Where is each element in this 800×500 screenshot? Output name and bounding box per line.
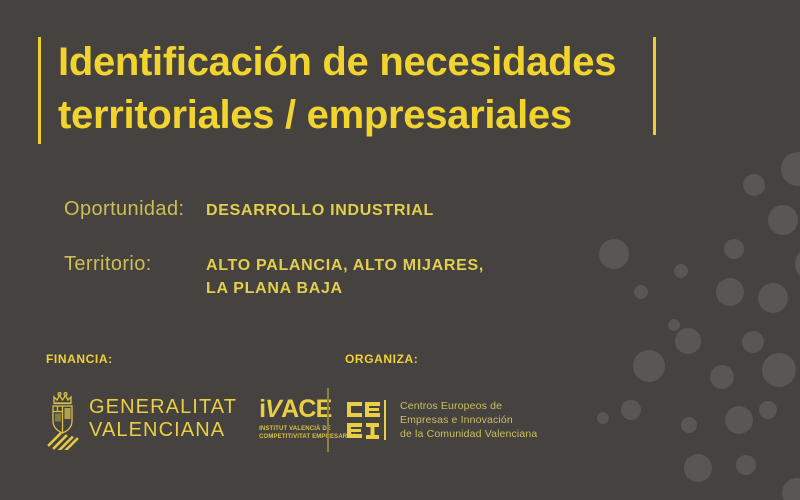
organiza-heading: ORGANIZA: bbox=[345, 352, 537, 366]
generalitat-wordmark-line-2: VALENCIANA bbox=[89, 419, 237, 442]
generalitat-crest-icon bbox=[46, 388, 80, 450]
decorative-dot bbox=[599, 239, 629, 269]
decorative-dot bbox=[675, 328, 701, 354]
presentation-slide: Identificación de necesidades territoria… bbox=[0, 0, 800, 500]
slide-footer: FINANCIA: bbox=[46, 352, 800, 462]
financia-logos: GENERALITAT VALENCIANA iVACE INSTITUT VA… bbox=[46, 388, 357, 450]
ivace-subtitle-line-1: INSTITUT VALENCIÀ DE bbox=[259, 425, 357, 433]
page-title: Identificación de necesidades territoria… bbox=[58, 36, 648, 142]
ivace-logo: iVACE INSTITUT VALENCIÀ DE COMPETITIVITA… bbox=[259, 397, 357, 441]
field-value-oportunidad: DESARROLLO INDUSTRIAL bbox=[206, 196, 434, 222]
field-value-territorio: ALTO PALANCIA, ALTO MIJARES, LA PLANA BA… bbox=[206, 251, 484, 300]
field-row-territorio: Territorio: ALTO PALANCIA, ALTO MIJARES,… bbox=[64, 251, 584, 300]
decorative-dot bbox=[668, 319, 680, 331]
ivace-wordmark: iVACE bbox=[259, 397, 357, 422]
field-row-oportunidad: Oportunidad: DESARROLLO INDUSTRIAL bbox=[64, 196, 584, 222]
organiza-logos: Centros Europeos de Empresas e Innovació… bbox=[345, 388, 537, 452]
ceei-description: Centros Europeos de Empresas e Innovació… bbox=[400, 399, 537, 441]
ceei-description-line-2: Empresas e Innovación bbox=[400, 413, 537, 427]
decorative-dot bbox=[743, 174, 765, 196]
title-accent-rule-right bbox=[653, 37, 656, 135]
ivace-subtitle-line-2: COMPETITIVITAT EMPRESARIAL bbox=[259, 433, 357, 441]
field-label-territorio: Territorio: bbox=[64, 251, 206, 277]
field-value-line: DESARROLLO INDUSTRIAL bbox=[206, 199, 434, 222]
decorative-dot bbox=[782, 478, 800, 500]
decorative-dot bbox=[634, 285, 648, 299]
ceei-description-line-3: de la Comunidad Valenciana bbox=[400, 427, 537, 441]
decorative-dot bbox=[716, 278, 744, 306]
decorative-dot bbox=[742, 331, 764, 353]
detail-fields: Oportunidad: DESARROLLO INDUSTRIAL Terri… bbox=[64, 196, 584, 329]
financia-heading: FINANCIA: bbox=[46, 352, 357, 366]
title-accent-rule-left bbox=[38, 37, 41, 144]
field-value-line: LA PLANA BAJA bbox=[206, 277, 484, 300]
field-value-line: ALTO PALANCIA, ALTO MIJARES, bbox=[206, 254, 484, 277]
ceei-mark-icon bbox=[347, 400, 389, 440]
decorative-dot bbox=[795, 247, 800, 281]
footer-divider bbox=[327, 388, 329, 452]
field-label-oportunidad: Oportunidad: bbox=[64, 196, 206, 222]
decorative-dot bbox=[768, 205, 798, 235]
generalitat-wordmark-line-1: GENERALITAT bbox=[89, 396, 237, 419]
decorative-dot bbox=[758, 283, 788, 313]
financia-group: FINANCIA: bbox=[46, 352, 357, 450]
page-title-line-2: territoriales / empresariales bbox=[58, 89, 648, 142]
ivace-subtitle: INSTITUT VALENCIÀ DE COMPETITIVITAT EMPR… bbox=[259, 425, 357, 441]
decorative-dot bbox=[781, 152, 800, 186]
decorative-dot bbox=[674, 264, 688, 278]
ceei-description-line-1: Centros Europeos de bbox=[400, 399, 537, 413]
ceei-logo: Centros Europeos de Empresas e Innovació… bbox=[347, 399, 537, 441]
generalitat-valenciana-logo: GENERALITAT VALENCIANA bbox=[46, 388, 237, 450]
organiza-group: ORGANIZA: bbox=[345, 352, 537, 452]
decorative-dot bbox=[724, 239, 744, 259]
page-title-line-1: Identificación de necesidades bbox=[58, 36, 648, 89]
generalitat-wordmark: GENERALITAT VALENCIANA bbox=[89, 396, 237, 442]
